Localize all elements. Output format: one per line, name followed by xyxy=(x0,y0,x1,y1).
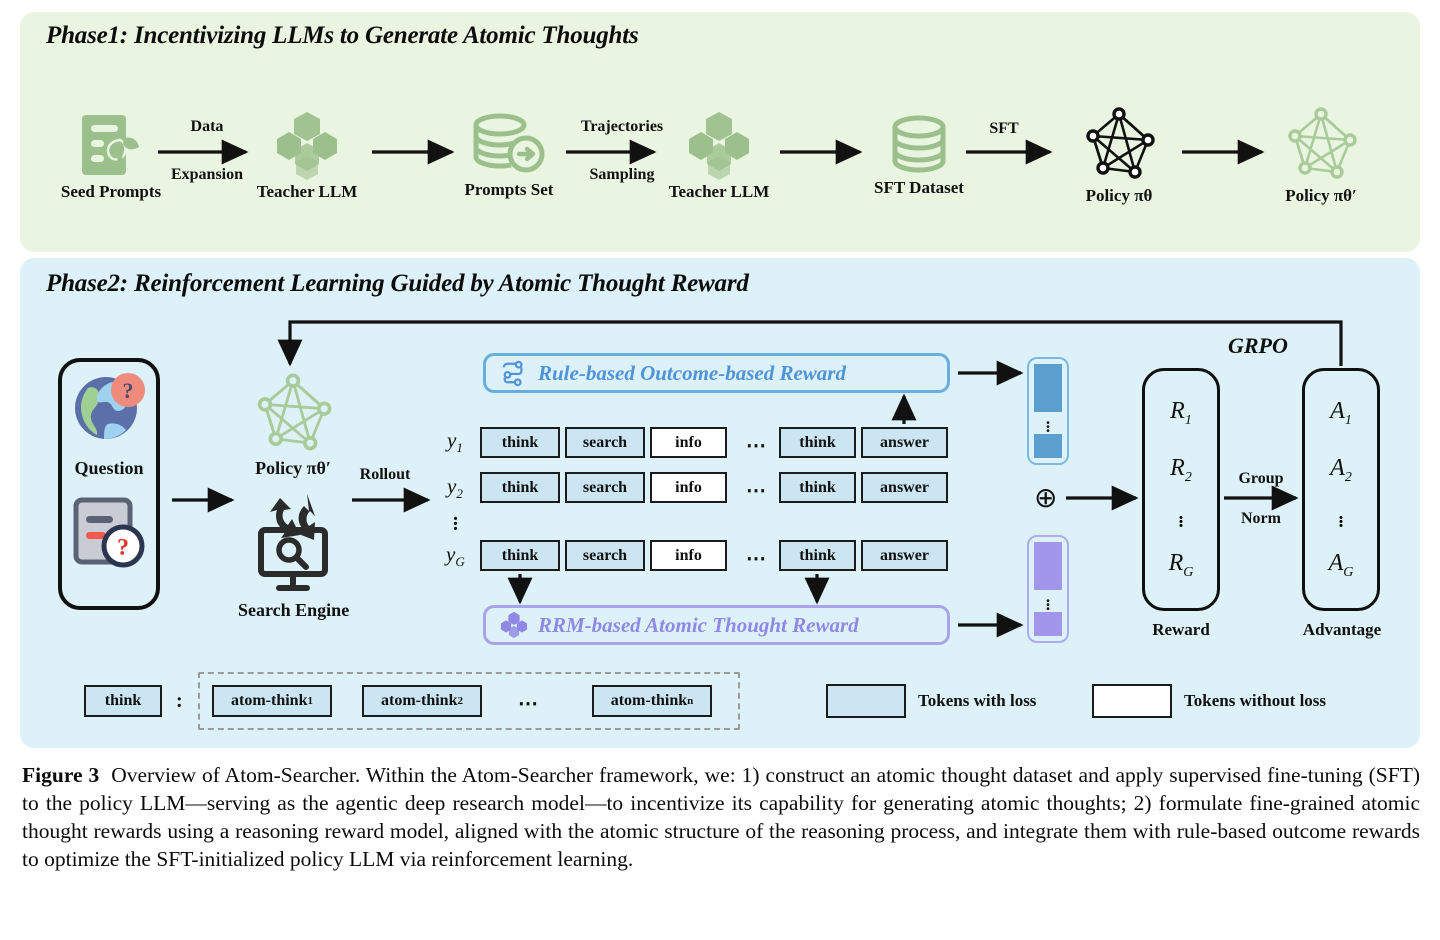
atomic-reward-stack: ... xyxy=(1027,535,1069,643)
legend-atom-think-n: atom-thinkn xyxy=(592,685,712,717)
legend-label-with-loss: Tokens with loss xyxy=(918,691,1036,711)
node-policy-theta-prime: Policy πθ′ xyxy=(1262,106,1380,206)
monitor-search-icon xyxy=(238,488,348,596)
svg-text:?: ? xyxy=(123,378,134,403)
graph-network-dark-icon xyxy=(1060,106,1178,182)
node-label: Teacher LLM xyxy=(660,182,778,202)
token-answer: answer xyxy=(861,427,948,458)
token-search: search xyxy=(565,540,645,571)
arrow-label-data: Data xyxy=(152,118,262,136)
token-info: info xyxy=(650,540,727,571)
grpo-label: GRPO xyxy=(1228,333,1288,359)
reward-dots: ... xyxy=(1179,512,1184,524)
token-ellipsis: ⋯ xyxy=(746,546,768,571)
legend-swatch-without-loss xyxy=(1092,684,1172,718)
sequence-vertical-dots: ... xyxy=(453,512,458,527)
reward-capsule-label: Reward xyxy=(1142,620,1220,640)
node-sft-dataset: SFT Dataset xyxy=(860,116,978,198)
token-info: info xyxy=(650,472,727,503)
node-label: Policy πθ xyxy=(1060,186,1178,206)
rollout-label: Rollout xyxy=(350,466,420,484)
token-search: search xyxy=(565,472,645,503)
reward-capsule: R1 R2 ... RG xyxy=(1142,368,1220,611)
node-label: Prompts Set xyxy=(450,180,568,200)
token-search: search xyxy=(565,427,645,458)
token-info: info xyxy=(650,427,727,458)
reward-item-G: RG xyxy=(1169,550,1194,581)
reward-item-1: R1 xyxy=(1170,398,1192,429)
token-think: think xyxy=(480,427,560,458)
stack-dots: ... xyxy=(1046,590,1050,612)
group-norm-top-label: Group xyxy=(1224,470,1298,488)
node-teacher-llm-1: Teacher LLM xyxy=(248,110,366,202)
legend-ellipsis: ⋯ xyxy=(518,691,540,716)
reward-item-2: R2 xyxy=(1170,455,1192,486)
legend-label-without-loss: Tokens without loss xyxy=(1184,691,1326,711)
node-label: Teacher LLM xyxy=(248,182,366,202)
group-norm-bottom-label: Norm xyxy=(1224,510,1298,528)
node-prompts-set: Prompts Set xyxy=(450,114,568,200)
figure-caption-text: Overview of Atom-Searcher. Within the At… xyxy=(22,763,1420,871)
legend-colon: : xyxy=(176,690,183,713)
token-think-2: think xyxy=(779,472,856,503)
stack-cell xyxy=(1034,542,1062,566)
database-arrow-icon xyxy=(450,114,568,176)
node-label: Search Engine xyxy=(238,600,348,621)
advantage-item-2: A2 xyxy=(1330,455,1352,486)
arrow-label-sft: SFT xyxy=(964,120,1044,138)
cube-cluster-icon xyxy=(500,611,528,639)
token-ellipsis: ⋯ xyxy=(746,433,768,458)
node-policy-theta-prime-p2: Policy πθ′ xyxy=(238,372,348,479)
arrow-label-expansion: Expansion xyxy=(152,166,262,184)
legend-atom-think-2: atom-think2 xyxy=(362,685,482,717)
legend-think-box: think xyxy=(84,685,162,717)
advantage-item-1: A1 xyxy=(1330,398,1352,429)
graph-network-light-icon xyxy=(1262,106,1380,182)
advantage-capsule: A1 A2 ... AG xyxy=(1302,368,1380,611)
token-think-2: think xyxy=(779,540,856,571)
question-card-label: Question xyxy=(58,458,160,479)
node-label: Policy πθ′ xyxy=(1262,186,1380,206)
token-think: think xyxy=(480,540,560,571)
plus-circle-icon: ⊕ xyxy=(1034,485,1057,513)
cube-cluster-icon xyxy=(248,110,366,178)
stack-cell xyxy=(1034,434,1062,458)
arrow-label-trajectories: Trajectories xyxy=(552,118,692,136)
advantage-item-G: AG xyxy=(1329,550,1354,581)
node-search-engine: Search Engine xyxy=(238,488,348,621)
figure-label: Figure 3 xyxy=(22,763,99,787)
database-icon xyxy=(860,116,978,174)
phase2-title: Phase2: Reinforcement Learning Guided by… xyxy=(46,270,749,298)
globe-question-icon: ? xyxy=(72,372,148,444)
sequence-label-y1: y1 xyxy=(447,428,463,456)
node-policy-theta: Policy πθ xyxy=(1060,106,1178,206)
advantage-dots: ... xyxy=(1339,512,1344,524)
node-label: Policy πθ′ xyxy=(238,458,348,479)
node-label: Seed Prompts xyxy=(52,182,170,202)
stack-dots: ... xyxy=(1046,412,1050,434)
svg-text:?: ? xyxy=(117,535,129,561)
sequence-label-y2: y2 xyxy=(447,474,463,502)
graph-network-light-icon xyxy=(238,372,348,454)
legend-atom-think-1: atom-think1 xyxy=(212,685,332,717)
atomic-reward-label: RRM-based Atomic Thought Reward xyxy=(538,613,859,638)
token-think-2: think xyxy=(779,427,856,458)
token-ellipsis: ⋯ xyxy=(746,478,768,503)
node-label: SFT Dataset xyxy=(860,178,978,198)
advantage-capsule-label: Advantage xyxy=(1295,620,1389,640)
stack-cell xyxy=(1034,612,1062,636)
arrow-label-sampling: Sampling xyxy=(552,166,692,184)
outcome-reward-stack: ... xyxy=(1027,357,1069,465)
legend-swatch-with-loss xyxy=(826,684,906,718)
rule-flow-icon xyxy=(500,360,528,386)
figure-caption: Figure 3 Overview of Atom-Searcher. With… xyxy=(22,762,1420,874)
token-think: think xyxy=(480,472,560,503)
atomic-reward-banner: RRM-based Atomic Thought Reward xyxy=(483,605,950,645)
sequence-label-yG: yG xyxy=(446,542,465,570)
outcome-reward-label: Rule-based Outcome-based Reward xyxy=(538,361,846,386)
outcome-reward-banner: Rule-based Outcome-based Reward xyxy=(483,353,950,393)
phase1-title: Phase1: Incentivizing LLMs to Generate A… xyxy=(46,22,638,50)
token-answer: answer xyxy=(861,540,948,571)
token-answer: answer xyxy=(861,472,948,503)
stack-cell xyxy=(1034,364,1062,388)
document-question-icon: ? xyxy=(70,494,150,572)
